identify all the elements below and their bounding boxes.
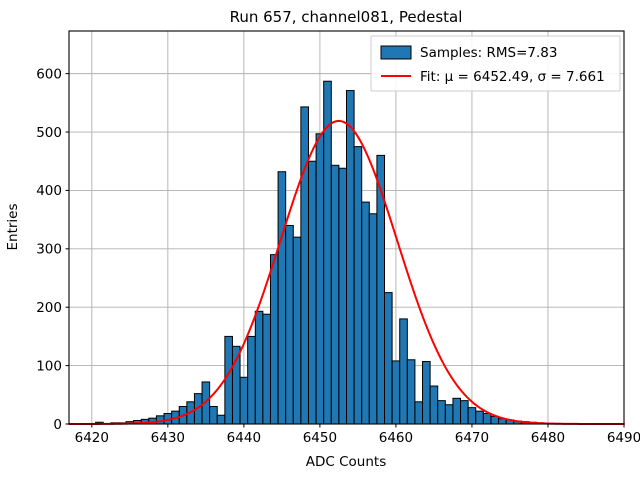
- histogram-bar: [362, 202, 370, 424]
- histogram-bar: [476, 411, 484, 424]
- y-tick-label: 0: [53, 417, 62, 433]
- histogram-bar: [369, 214, 377, 424]
- chart-title: Run 657, channel081, Pedestal: [230, 8, 463, 26]
- legend-label-samples: Samples: RMS=7.83: [420, 45, 557, 61]
- histogram-bar: [263, 314, 271, 424]
- histogram-bar: [483, 413, 491, 424]
- histogram-bar: [324, 81, 332, 424]
- x-tick-label: 6430: [151, 430, 185, 446]
- histogram-bar: [423, 362, 431, 424]
- histogram-bar: [453, 398, 461, 424]
- y-tick-label: 100: [36, 358, 62, 374]
- x-tick-label: 6450: [303, 430, 337, 446]
- histogram-bar: [445, 405, 453, 424]
- histogram-bar: [461, 401, 469, 424]
- histogram-bar: [385, 293, 393, 424]
- histogram-bar: [248, 336, 256, 424]
- histogram-bar: [316, 134, 324, 424]
- histogram-bar: [225, 336, 233, 424]
- histogram-bar: [430, 386, 438, 424]
- y-tick-label: 200: [36, 300, 62, 316]
- histogram-bar: [468, 408, 476, 424]
- histogram-bar: [438, 401, 446, 424]
- x-tick-label: 6470: [455, 430, 489, 446]
- chart-canvas: Run 657, channel081, Pedestal 6420643064…: [0, 0, 640, 480]
- histogram-bar: [217, 415, 225, 424]
- histogram-bar: [293, 237, 301, 424]
- histogram-bar: [255, 311, 263, 424]
- legend-label-fit: Fit: μ = 6452.49, σ = 7.661: [420, 69, 605, 85]
- histogram-bar: [347, 91, 355, 424]
- histogram-bar: [308, 161, 316, 424]
- histogram-bar: [400, 319, 408, 424]
- histogram-bar: [270, 255, 278, 424]
- x-tick-label: 6420: [75, 430, 109, 446]
- x-tick-label: 6460: [379, 430, 413, 446]
- histogram-figure: Run 657, channel081, Pedestal 6420643064…: [0, 0, 640, 480]
- histogram-bar: [339, 168, 347, 424]
- y-tick-label: 400: [36, 183, 62, 199]
- x-axis-label: ADC Counts: [306, 454, 386, 470]
- legend-swatch-samples: [381, 46, 411, 59]
- y-axis-label: Entries: [5, 203, 21, 250]
- histogram-bar: [301, 107, 309, 424]
- y-tick-label: 600: [36, 66, 62, 82]
- histogram-bar: [331, 165, 339, 424]
- histogram-bar: [240, 377, 248, 424]
- y-tick-label: 300: [36, 242, 62, 258]
- x-tick-label: 6480: [531, 430, 565, 446]
- histogram-bar: [392, 361, 400, 424]
- histogram-bar: [415, 402, 423, 424]
- chart-legend[interactable]: Samples: RMS=7.83 Fit: μ = 6452.49, σ = …: [371, 36, 620, 91]
- histogram-bar: [354, 147, 362, 424]
- y-tick-label: 500: [36, 125, 62, 141]
- histogram-bar: [286, 225, 294, 424]
- x-tick-label: 6490: [607, 430, 640, 446]
- histogram-bar: [407, 360, 415, 424]
- x-tick-label: 6440: [227, 430, 261, 446]
- histogram-bar: [278, 172, 286, 424]
- histogram-bar: [210, 406, 218, 424]
